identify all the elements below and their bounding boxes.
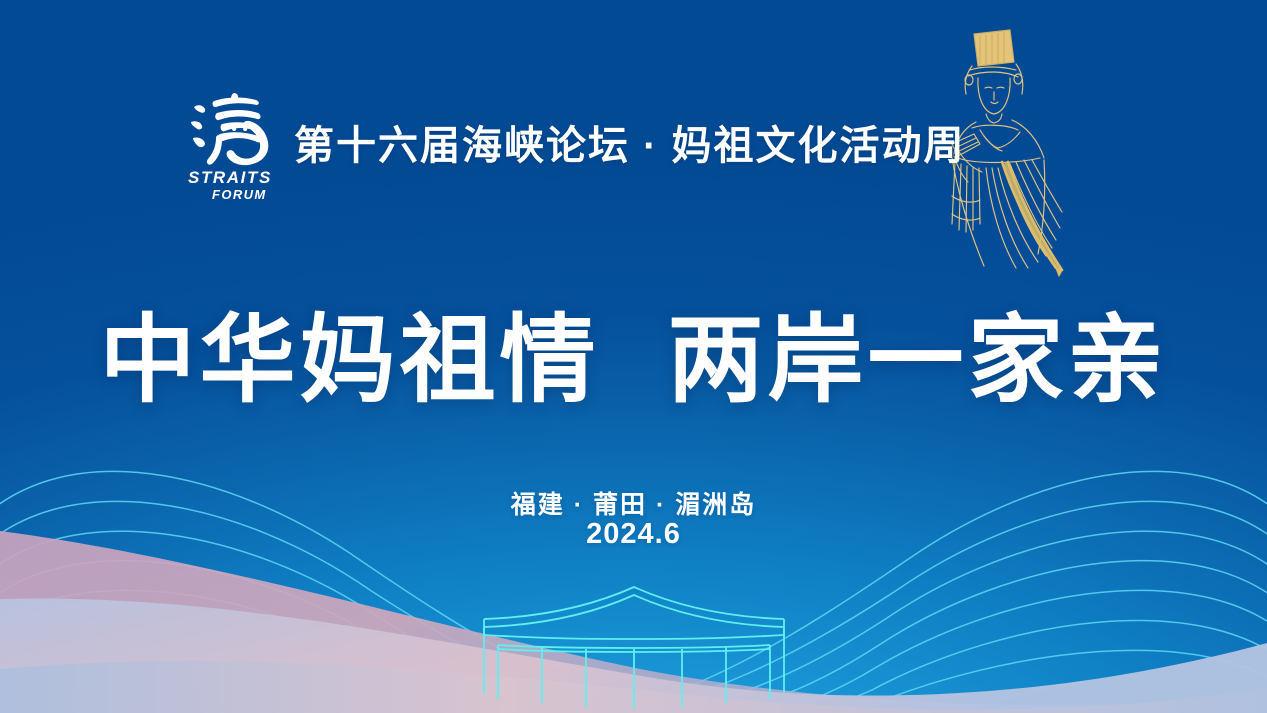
- logo-straits-text: STRAITS: [188, 169, 280, 186]
- poster-header: STRAITS FORUM 第十六届海峡论坛 · 妈祖文化活动周: [186, 95, 966, 207]
- date-text: 2024.6: [0, 518, 1267, 551]
- headline-part-1: 中华妈祖情: [100, 307, 600, 414]
- straits-forum-logo: STRAITS FORUM: [186, 95, 278, 207]
- headline-part-2: 两岸一家亲: [668, 307, 1168, 414]
- logo-forum-text: FORUM: [212, 188, 282, 201]
- location-text: 福建 · 莆田 · 湄洲岛: [0, 485, 1267, 521]
- poster-headline: 中华妈祖情两岸一家亲: [0, 282, 1267, 421]
- event-title: 第十六届海峡论坛 · 妈祖文化活动周: [294, 113, 966, 171]
- hai-calligraphy-icon: [186, 91, 278, 169]
- temple-pavilion-outline-icon: [454, 583, 814, 713]
- poster-canvas: STRAITS FORUM 第十六届海峡论坛 · 妈祖文化活动周 中华妈祖情两岸…: [0, 0, 1267, 713]
